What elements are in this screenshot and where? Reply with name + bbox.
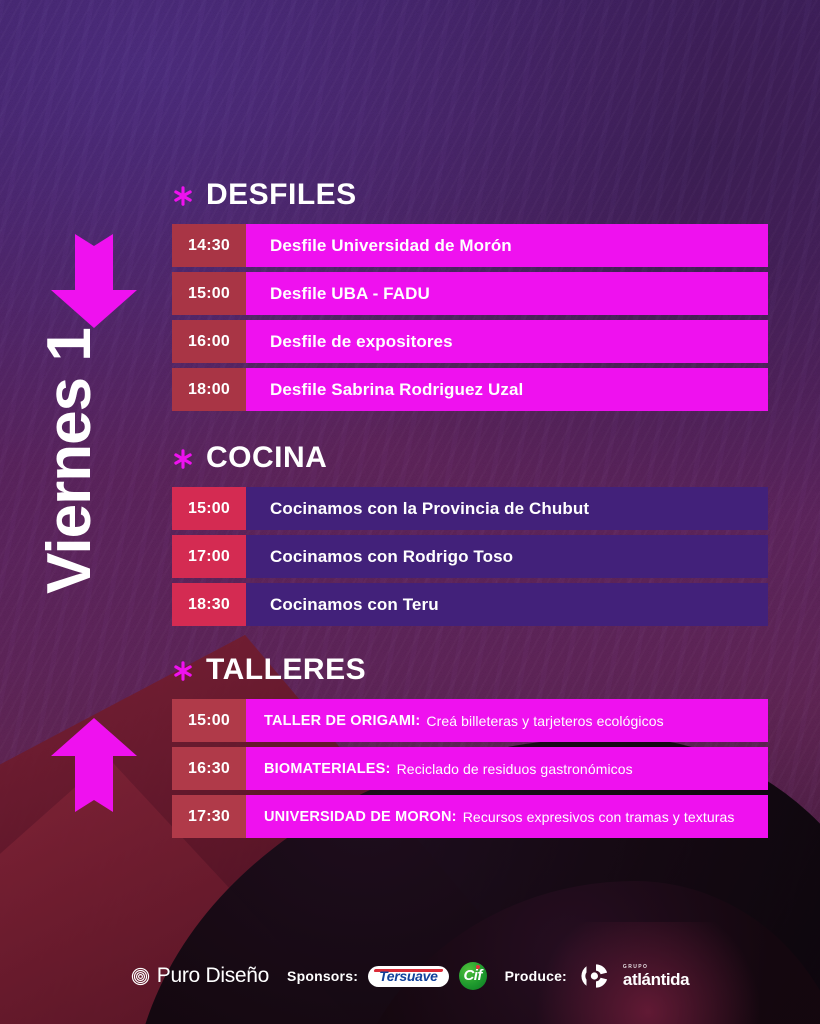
section-header-cocina: COCINA <box>172 441 768 475</box>
section-title: DESFILES <box>206 180 357 210</box>
row-time: 16:30 <box>172 747 246 790</box>
atlantida-mark-icon <box>577 963 615 989</box>
brand-puro-diseno: Puro Diseño <box>131 964 269 988</box>
day-rail: Viernes 1 <box>0 0 160 1024</box>
footer: Puro Diseño Sponsors: Tersuave Cif Produ… <box>0 962 820 990</box>
section-title: COCINA <box>206 443 327 473</box>
row-title: TALLER DE ORIGAMI: Creá billeteras y tar… <box>246 699 768 742</box>
spiral-icon <box>131 967 150 986</box>
cif-logo: Cif <box>459 962 487 990</box>
cif-name: Cif <box>464 967 482 984</box>
day-label: Viernes 1 <box>39 251 101 671</box>
table-row[interactable]: 15:00 Cocinamos con la Provincia de Chub… <box>172 487 768 530</box>
producer-group: Produce: GRUPO atlántida <box>505 963 690 989</box>
tersuave-name: Tersuave <box>379 968 438 984</box>
row-title: Cocinamos con la Provincia de Chubut <box>246 487 768 530</box>
row-title-text: Reciclado de residuos gastronómicos <box>397 761 633 777</box>
row-title-prefix: UNIVERSIDAD DE MORON: <box>264 809 457 825</box>
atlantida-wordmark: GRUPO atlántida <box>623 965 689 988</box>
atlantida-logo: GRUPO atlántida <box>577 963 689 989</box>
row-time: 17:30 <box>172 795 246 838</box>
row-title: UNIVERSIDAD DE MORON: Recursos expresivo… <box>246 795 768 838</box>
table-row[interactable]: 16:00 Desfile de expositores <box>172 320 768 363</box>
row-time: 15:00 <box>172 487 246 530</box>
row-title: Desfile de expositores <box>246 320 768 363</box>
row-time: 16:00 <box>172 320 246 363</box>
asterisk-icon <box>172 660 194 682</box>
row-time: 18:00 <box>172 368 246 411</box>
sponsors-label: Sponsors: <box>287 968 358 984</box>
atlantida-name: atlántida <box>623 971 689 988</box>
row-time: 18:30 <box>172 583 246 626</box>
table-row[interactable]: 18:30 Cocinamos con Teru <box>172 583 768 626</box>
table-row[interactable]: 15:00 TALLER DE ORIGAMI: Creá billeteras… <box>172 699 768 742</box>
table-row[interactable]: 16:30 BIOMATERIALES: Reciclado de residu… <box>172 747 768 790</box>
table-row[interactable]: 15:00 Desfile UBA - FADU <box>172 272 768 315</box>
row-title-prefix: BIOMATERIALES: <box>264 761 391 777</box>
poster-canvas: Viernes 1 DESFILES 14:30 Desfile Univers… <box>0 0 820 1024</box>
row-time: 15:00 <box>172 272 246 315</box>
asterisk-icon <box>172 185 194 207</box>
section-title: TALLERES <box>206 655 366 685</box>
row-title-prefix: TALLER DE ORIGAMI: <box>264 713 420 729</box>
atlantida-grupo: GRUPO <box>623 965 689 970</box>
asterisk-icon <box>172 448 194 470</box>
row-title: Cocinamos con Teru <box>246 583 768 626</box>
row-title: Cocinamos con Rodrigo Toso <box>246 535 768 578</box>
row-title-text: Creá billeteras y tarjeteros ecológicos <box>426 713 663 729</box>
row-time: 15:00 <box>172 699 246 742</box>
table-row[interactable]: 17:30 UNIVERSIDAD DE MORON: Recursos exp… <box>172 795 768 838</box>
tersuave-logo: Tersuave <box>368 966 449 987</box>
table-row[interactable]: 17:00 Cocinamos con Rodrigo Toso <box>172 535 768 578</box>
section-talleres: TALLERES 15:00 TALLER DE ORIGAMI: Creá b… <box>172 653 768 843</box>
sponsors-group: Sponsors: Tersuave Cif <box>287 962 487 990</box>
section-cocina: COCINA 15:00 Cocinamos con la Provincia … <box>172 441 768 631</box>
brand-name: Puro Diseño <box>157 964 269 988</box>
row-title: Desfile UBA - FADU <box>246 272 768 315</box>
row-time: 17:00 <box>172 535 246 578</box>
row-title-text: Recursos expresivos con tramas y textura… <box>463 809 735 825</box>
table-row[interactable]: 14:30 Desfile Universidad de Morón <box>172 224 768 267</box>
produce-label: Produce: <box>505 968 567 984</box>
section-header-desfiles: DESFILES <box>172 178 768 212</box>
table-row[interactable]: 18:00 Desfile Sabrina Rodriguez Uzal <box>172 368 768 411</box>
row-title: Desfile Universidad de Morón <box>246 224 768 267</box>
row-title: BIOMATERIALES: Reciclado de residuos gas… <box>246 747 768 790</box>
row-title: Desfile Sabrina Rodriguez Uzal <box>246 368 768 411</box>
section-desfiles: DESFILES 14:30 Desfile Universidad de Mo… <box>172 178 768 416</box>
row-time: 14:30 <box>172 224 246 267</box>
section-header-talleres: TALLERES <box>172 653 768 687</box>
arrow-up-icon <box>48 716 140 814</box>
